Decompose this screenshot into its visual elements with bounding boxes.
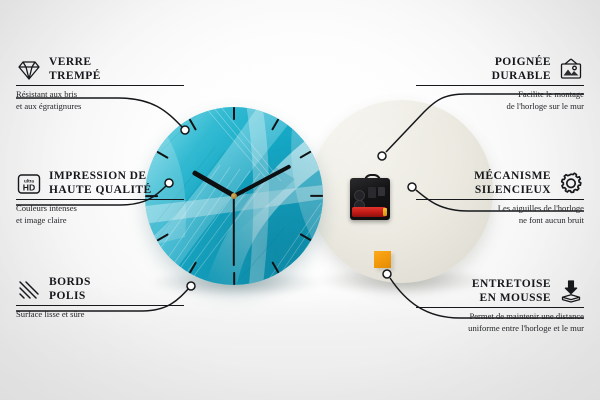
polished-edges-icon [16, 277, 42, 303]
callout-title: IMPRESSION DE HAUTE QUALITÉ [49, 170, 152, 197]
picture-frame-hook-icon [558, 57, 584, 83]
connector-dot-bords [187, 282, 195, 290]
ultra-hd-icon: ultra HD [16, 171, 42, 197]
callout-description: Résistant aux bris et aux égratignures [16, 89, 184, 112]
callout-entretoise-en-mousse: ENTRETOISE EN MOUSSE Permet de maintenir… [416, 278, 584, 334]
callout-header: ENTRETOISE EN MOUSSE [416, 278, 584, 305]
callout-description: Facilite le montage de l'horloge sur le … [416, 89, 584, 112]
connector-dot-entretoise [383, 270, 391, 278]
callout-rule [416, 199, 584, 200]
connector-dot-poignee [378, 152, 386, 160]
svg-text:HD: HD [23, 182, 35, 192]
callout-header: MÉCANISME SILENCIEUX [416, 170, 584, 197]
callout-description: Surface lisse et sûre [16, 309, 184, 321]
callout-poignee-durable: POIGNÉE DURABLE Facilite le montage de l… [416, 56, 584, 112]
callout-title: BORDS POLIS [49, 276, 91, 303]
callout-rule [16, 85, 184, 86]
callout-impression-haute-qualite: ultra HD IMPRESSION DE HAUTE QUALITÉ Cou… [16, 170, 184, 226]
callout-rule [416, 85, 584, 86]
callout-header: POIGNÉE DURABLE [416, 56, 584, 83]
callout-title: VERRE TREMPÉ [49, 56, 101, 83]
callout-title: ENTRETOISE EN MOUSSE [472, 278, 551, 305]
callout-title: MÉCANISME SILENCIEUX [474, 170, 551, 197]
callout-mecanisme-silencieux: MÉCANISME SILENCIEUX Les aiguilles de l'… [416, 170, 584, 226]
diamond-icon [16, 57, 42, 83]
callout-title: POIGNÉE DURABLE [492, 56, 551, 83]
callout-header: ultra HD IMPRESSION DE HAUTE QUALITÉ [16, 170, 184, 197]
callout-rule [16, 199, 184, 200]
connector-dot-verre [181, 126, 189, 134]
foam-spacer-arrow-icon [558, 279, 584, 305]
callout-header: BORDS POLIS [16, 276, 184, 303]
product-feature-infographic: VERRE TREMPÉ Résistant aux bris et aux é… [0, 0, 600, 400]
connector-dot-mecanisme [408, 183, 416, 191]
callout-verre-trempe: VERRE TREMPÉ Résistant aux bris et aux é… [16, 56, 184, 112]
callout-description: Permet de maintenir une distance uniform… [416, 311, 584, 334]
callout-bords-polis: BORDS POLIS Surface lisse et sûre [16, 276, 184, 321]
callout-header: VERRE TREMPÉ [16, 56, 184, 83]
gear-icon [558, 171, 584, 197]
callout-rule [416, 307, 584, 308]
callout-description: Les aiguilles de l'horloge ne font aucun… [416, 203, 584, 226]
callout-rule [16, 305, 184, 306]
callout-description: Couleurs intenses et image claire [16, 203, 184, 226]
